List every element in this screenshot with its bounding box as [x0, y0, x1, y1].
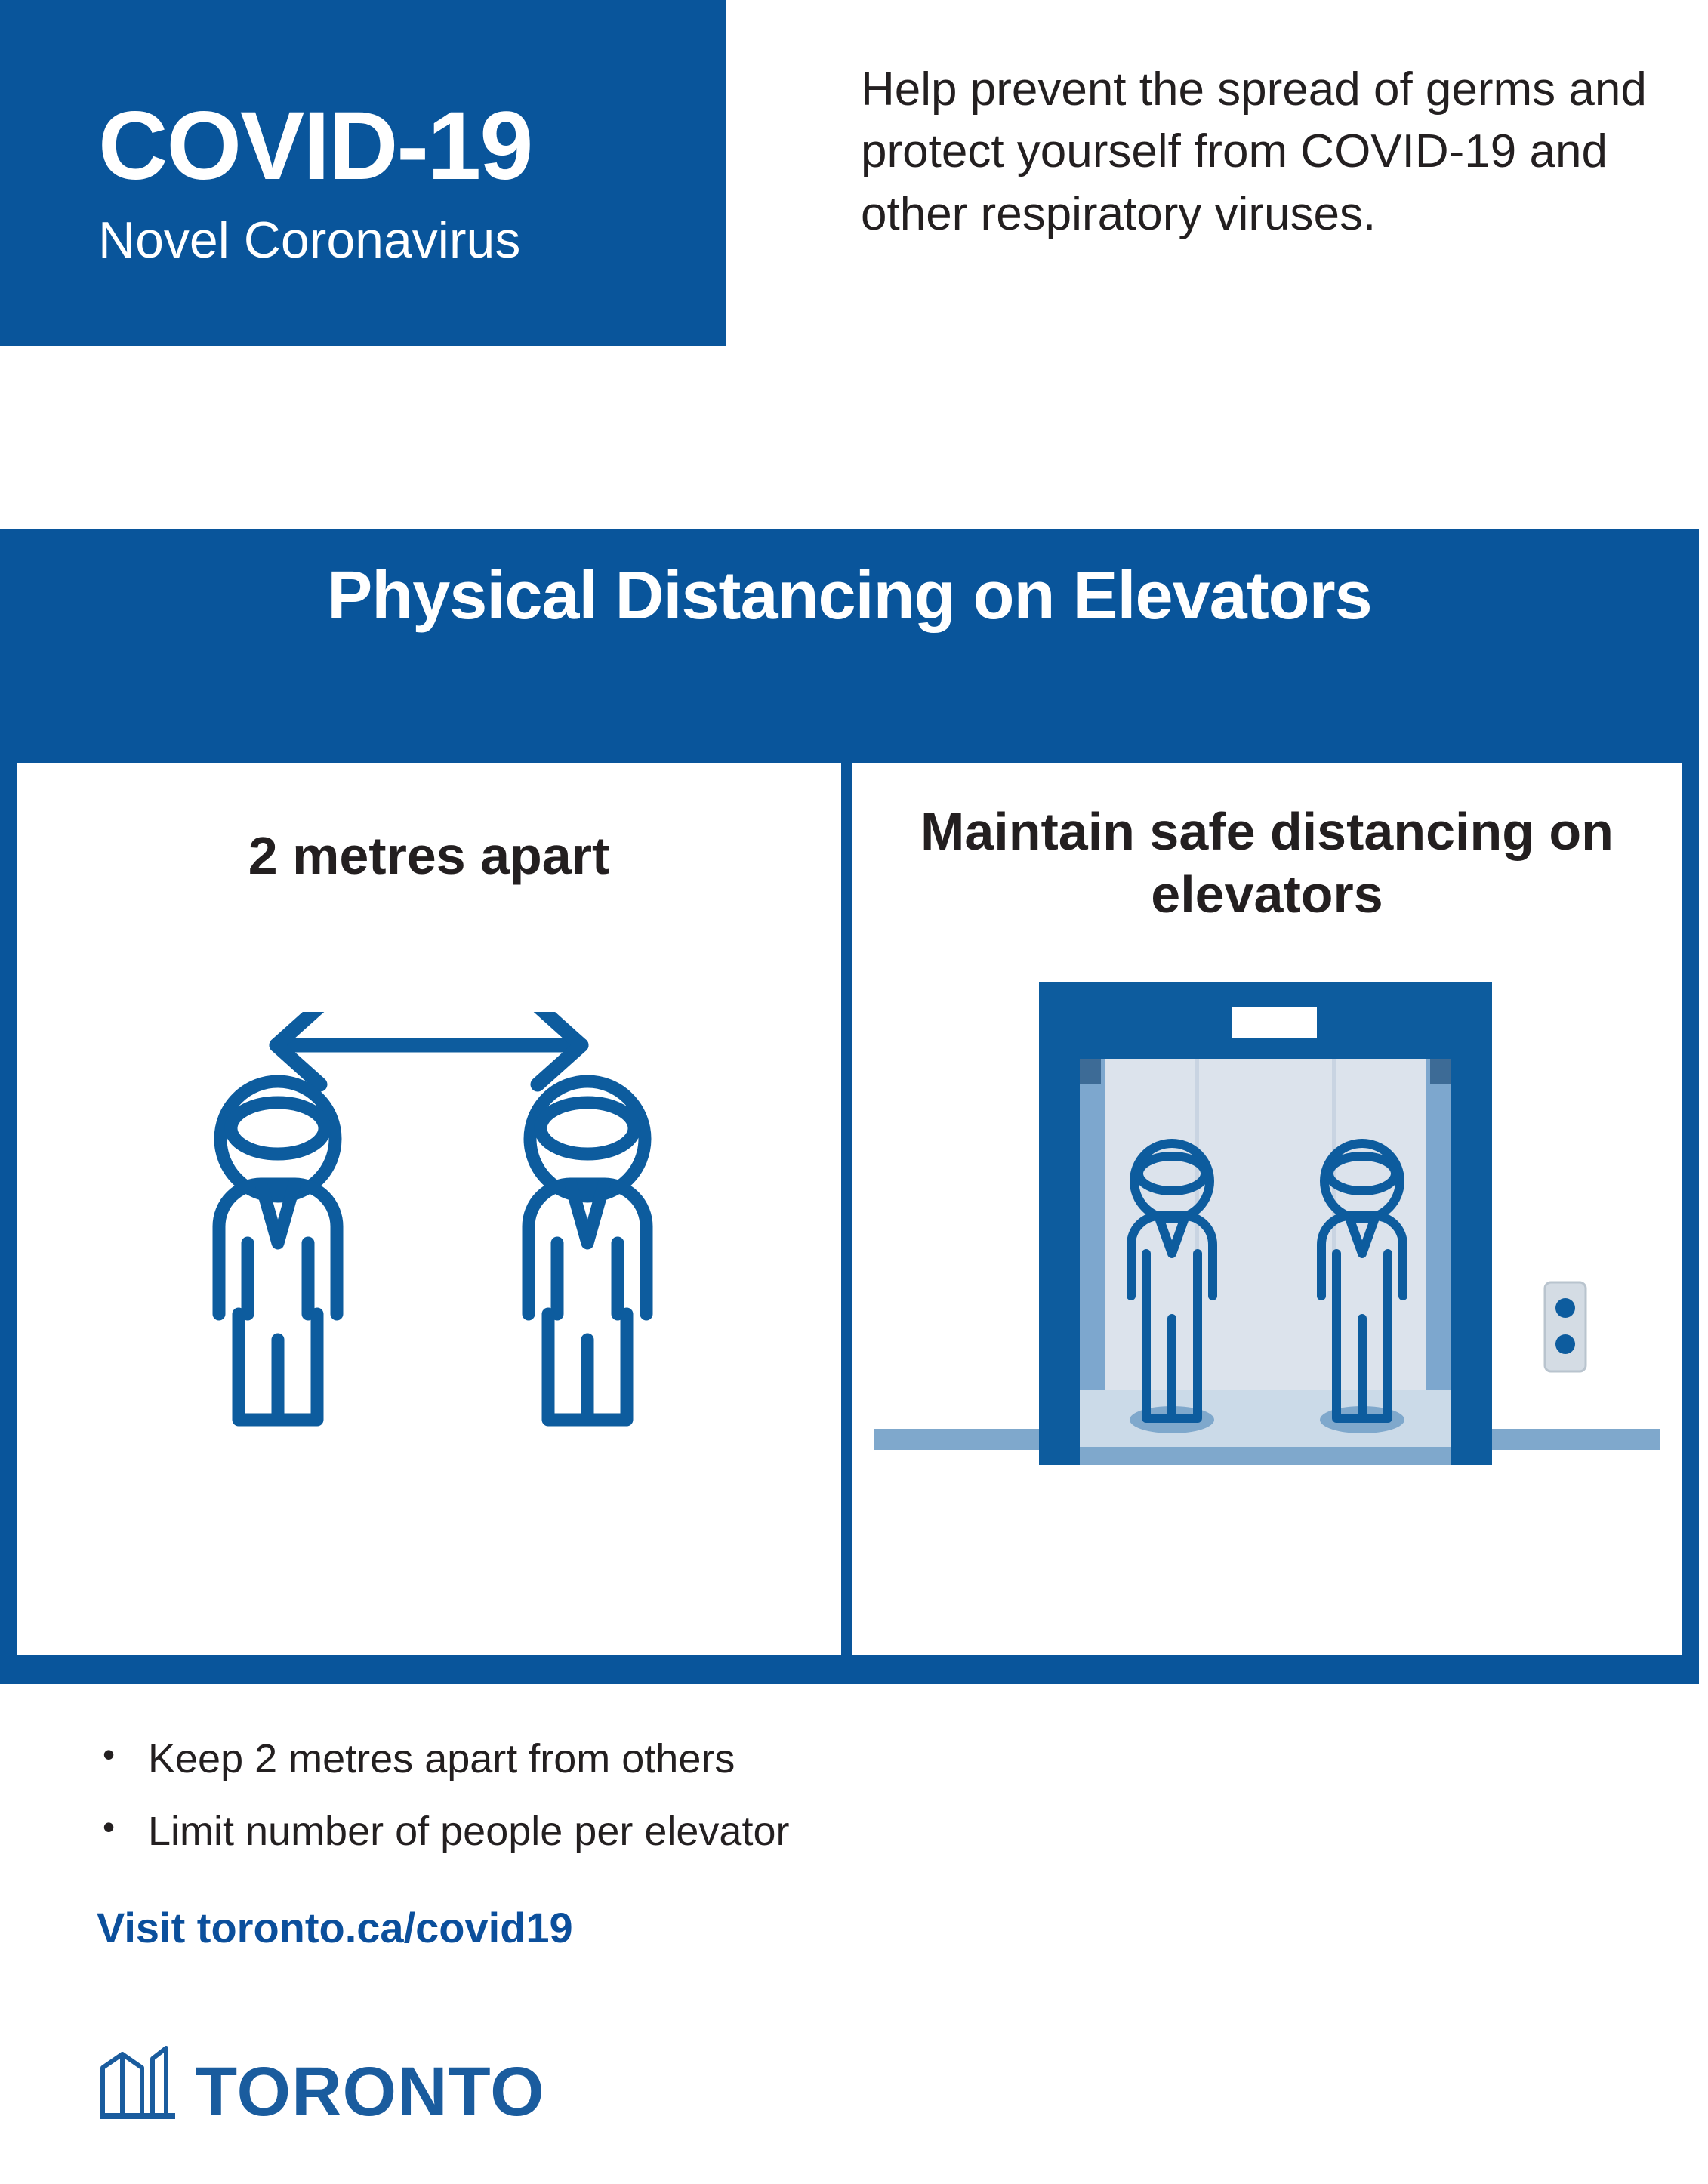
- elevator-threshold: [1080, 1447, 1451, 1465]
- header-tagline: Help prevent the spread of germs and pro…: [861, 59, 1669, 245]
- list-item: Keep 2 metres apart from others: [97, 1738, 1154, 1779]
- guidance-bullet-list: Keep 2 metres apart from others Limit nu…: [97, 1738, 1154, 1883]
- covid19-logo-title: COVID-19: [98, 98, 726, 195]
- covid19-logo-box: COVID-19 Novel Coronavirus: [0, 0, 726, 346]
- door-track-right: [1430, 1059, 1451, 1084]
- person-right-icon: [529, 1081, 646, 1420]
- panel-elevator: Maintain safe distancing on elevators: [852, 763, 1682, 1655]
- covid19-logo-subtitle: Novel Coronavirus: [98, 214, 726, 266]
- toronto-logo: TORONTO: [97, 2045, 545, 2124]
- call-button-down-icon: [1555, 1334, 1575, 1354]
- toronto-wordmark: TORONTO: [195, 2060, 545, 2124]
- panel-distancing: 2 metres apart: [17, 763, 841, 1655]
- door-track-left: [1080, 1059, 1101, 1084]
- distance-arrow-icon: [276, 1012, 581, 1084]
- toronto-skyline-icon: [97, 2045, 178, 2124]
- elevator-illustration: [874, 967, 1660, 1499]
- person-left-icon: [219, 1081, 337, 1420]
- list-item: Limit number of people per elevator: [97, 1811, 1154, 1852]
- section-title: Physical Distancing on Elevators: [0, 557, 1699, 635]
- visit-website-link[interactable]: Visit toronto.ca/covid19: [97, 1903, 573, 1952]
- panel-distancing-heading: 2 metres apart: [17, 825, 841, 887]
- header-region: COVID-19 Novel Coronavirus Help prevent …: [0, 0, 1708, 483]
- elevator-call-button-panel: [1545, 1282, 1586, 1371]
- two-people-distance-illustration: [165, 1012, 693, 1469]
- main-content-box: Physical Distancing on Elevators 2 metre…: [0, 529, 1699, 1684]
- floor-indicator-display: [1232, 1007, 1317, 1038]
- call-button-up-icon: [1555, 1298, 1575, 1318]
- panel-elevator-heading: Maintain safe distancing on elevators: [852, 800, 1682, 925]
